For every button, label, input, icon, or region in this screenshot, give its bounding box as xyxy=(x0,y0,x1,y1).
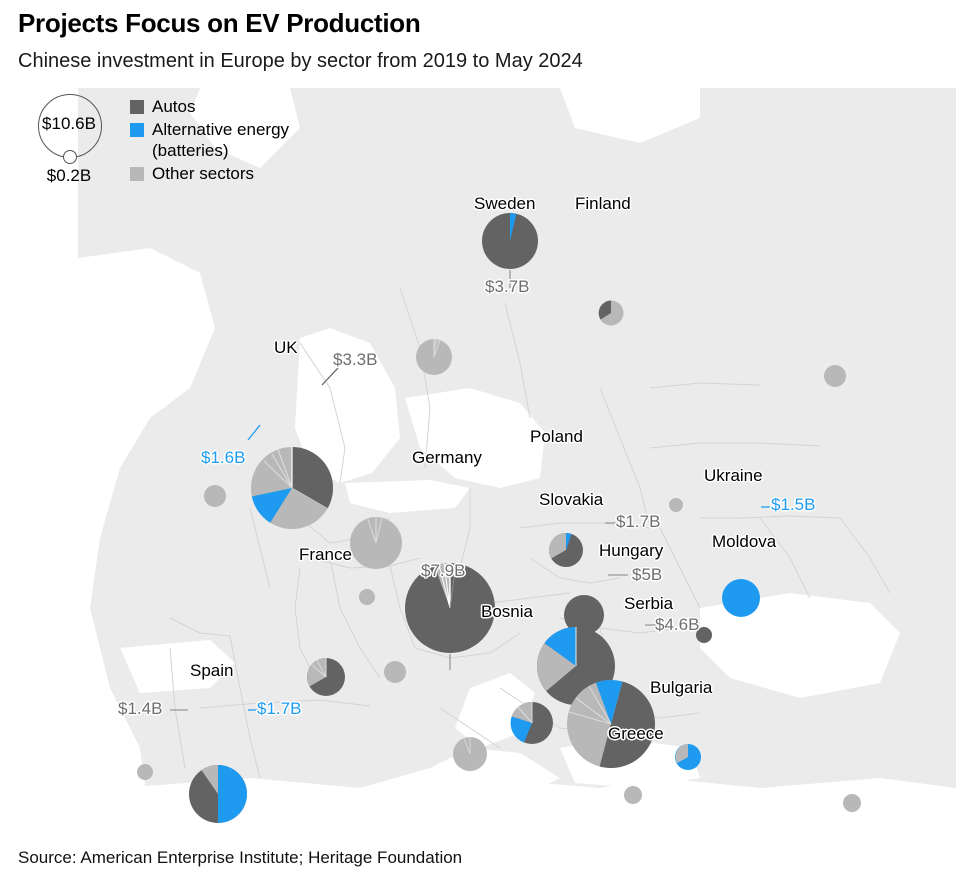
value-label-uk-autos: $3.3B xyxy=(333,350,377,370)
country-label-france: France xyxy=(299,545,352,565)
pie-bulgaria xyxy=(674,743,702,771)
country-label-moldova: Moldova xyxy=(712,532,776,552)
legend-item-alternative-energy: Alternative energy (batteries) xyxy=(130,119,289,161)
country-label-spain: Spain xyxy=(190,661,233,681)
country-label-slovakia: Slovakia xyxy=(539,490,603,510)
size-legend-min-label: $0.2B xyxy=(18,166,120,186)
pie-finland xyxy=(598,300,624,326)
pie-uk xyxy=(250,446,334,530)
pie-ireland xyxy=(203,484,227,508)
country-label-germany: Germany xyxy=(412,448,482,468)
legend-item-other-sectors: Other sectors xyxy=(130,163,289,184)
country-label-uk: UK xyxy=(274,338,298,358)
source-note: Source: American Enterprise Institute; H… xyxy=(18,848,462,868)
pie-russia-west xyxy=(823,364,847,388)
country-label-finland: Finland xyxy=(575,194,631,214)
legend-label-autos: Autos xyxy=(152,96,195,117)
legend-item-autos: Autos xyxy=(130,96,289,117)
pie-ukraine xyxy=(721,578,761,618)
pie-switzerland xyxy=(383,660,407,684)
pie-portugal xyxy=(136,763,154,781)
chart-subtitle: Chinese investment in Europe by sector f… xyxy=(18,50,583,73)
category-legend: Autos Alternative energy (batteries) Oth… xyxy=(130,96,289,186)
pie-bosnia xyxy=(510,701,554,745)
value-label-hungary: $5B xyxy=(632,565,662,585)
legend-swatch-other-sectors-icon xyxy=(130,167,144,181)
size-legend: $10.6B $0.2B xyxy=(18,92,128,207)
size-legend-max-label: $10.6B xyxy=(18,114,120,134)
pie-italy xyxy=(452,736,488,772)
legend-label-other-sectors: Other sectors xyxy=(152,163,254,184)
legend-swatch-alternative-energy-icon xyxy=(130,123,144,137)
country-label-poland: Poland xyxy=(530,427,583,447)
legend-label-alternative-energy-line2: (batteries) xyxy=(152,140,289,161)
pie-belarus xyxy=(668,497,684,513)
pie-romania xyxy=(623,785,643,805)
pie-poland xyxy=(548,532,584,568)
value-label-slovakia: $1.7B xyxy=(616,512,660,532)
value-label-germany: $7.9B xyxy=(421,561,465,581)
pie-cyprus xyxy=(842,793,862,813)
value-label-ukraine: $1.5B xyxy=(771,495,815,515)
country-label-ukraine: Ukraine xyxy=(704,466,763,486)
country-label-bosnia: Bosnia xyxy=(481,602,533,622)
pie-france xyxy=(306,657,346,697)
pie-belgium xyxy=(358,588,376,606)
value-label-serbia: $4.6B xyxy=(655,615,699,635)
pie-norway xyxy=(415,338,453,376)
chart-title: Projects Focus on EV Production xyxy=(18,8,420,39)
country-label-serbia: Serbia xyxy=(624,594,673,614)
country-label-bulgaria: Bulgaria xyxy=(650,678,712,698)
value-label-spain-autos: $1.4B xyxy=(118,699,162,719)
value-label-sweden: $3.7B xyxy=(485,277,529,297)
value-label-spain-alternative-energy: $1.7B xyxy=(257,699,301,719)
country-label-hungary: Hungary xyxy=(599,541,663,561)
pie-spain xyxy=(188,764,248,823)
value-label-uk-alternative-energy: $1.6B xyxy=(201,448,245,468)
legend-label-alternative-energy-line1: Alternative energy xyxy=(152,119,289,140)
country-label-greece: Greece xyxy=(608,724,664,744)
pie-sweden xyxy=(481,212,539,270)
pie-netherlands xyxy=(349,516,403,570)
size-legend-min-circle xyxy=(63,150,77,164)
country-label-sweden: Sweden xyxy=(474,194,535,214)
legend-swatch-autos-icon xyxy=(130,100,144,114)
